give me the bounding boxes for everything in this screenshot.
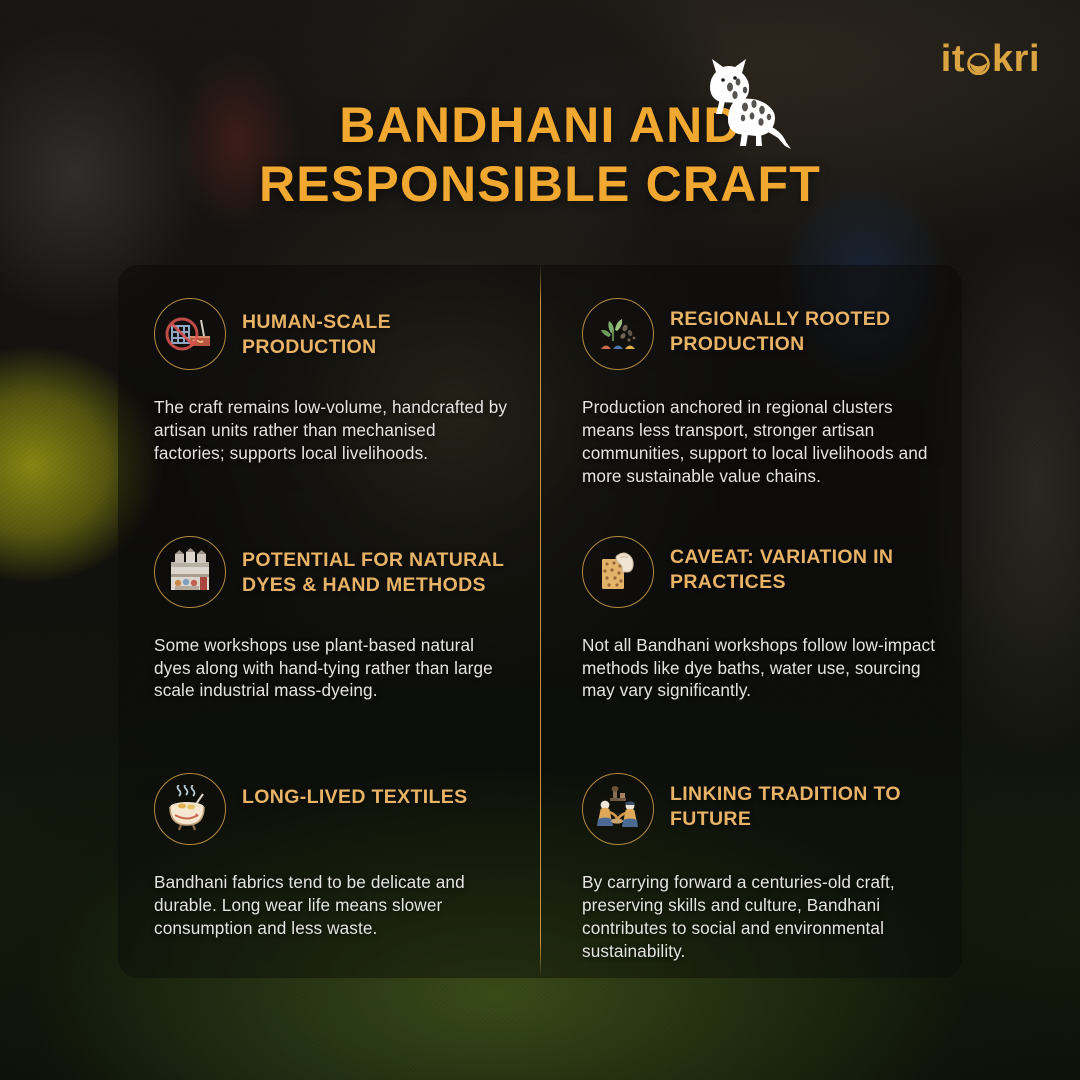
card-body: Not all Bandhani workshops follow low-im… <box>582 634 936 703</box>
page-title: BANDHANI AND RESPONSIBLE CRAFT <box>0 96 1080 213</box>
brand-logo[interactable]: itkri <box>941 40 1040 78</box>
logo-letters-it: it <box>941 40 965 78</box>
card-natural-dyes-hand-methods: POTENTIAL FOR NATURAL DYES & HAND METHOD… <box>118 503 540 741</box>
card-title: CAVEAT: VARIATION IN PRACTICES <box>670 536 936 595</box>
card-header: POTENTIAL FOR NATURAL DYES & HAND METHOD… <box>154 536 510 608</box>
logo-letters-kri: kri <box>992 40 1040 78</box>
card-body: Some workshops use plant-based natural d… <box>154 634 510 703</box>
card-regionally-rooted-production: REGIONALLY ROOTED PRODUCTION Production … <box>540 265 962 503</box>
card-header: LINKING TRADITION TO FUTURE <box>582 773 936 845</box>
card-long-lived-textiles: LONG-LIVED TEXTILES Bandhani fabrics ten… <box>118 740 540 978</box>
card-title: LONG-LIVED TEXTILES <box>242 773 468 810</box>
card-title: LINKING TRADITION TO FUTURE <box>670 773 936 832</box>
card-body: Production anchored in regional clusters… <box>582 396 936 488</box>
workshop-building-icon <box>154 536 226 608</box>
card-header: HUMAN-SCALE PRODUCTION <box>154 298 510 370</box>
card-body: The craft remains low-volume, handcrafte… <box>154 396 510 465</box>
card-linking-tradition-to-future: LINKING TRADITION TO FUTURE By carrying … <box>540 740 962 978</box>
card-body: By carrying forward a centuries-old craf… <box>582 871 936 963</box>
card-caveat-variation-in-practices: CAVEAT: VARIATION IN PRACTICES Not all B… <box>540 503 962 741</box>
cat-illustration <box>690 54 796 149</box>
content-panel: HUMAN-SCALE PRODUCTION The craft remains… <box>118 265 962 978</box>
cards-grid: HUMAN-SCALE PRODUCTION The craft remains… <box>118 265 962 978</box>
card-header: LONG-LIVED TEXTILES <box>154 773 510 845</box>
card-human-scale-production: HUMAN-SCALE PRODUCTION The craft remains… <box>118 265 540 503</box>
title-line-1: BANDHANI AND <box>0 96 1080 155</box>
bowl-icon <box>966 47 991 72</box>
hand-holding-fabric-icon <box>582 536 654 608</box>
card-title: POTENTIAL FOR NATURAL DYES & HAND METHOD… <box>242 536 510 598</box>
card-header: CAVEAT: VARIATION IN PRACTICES <box>582 536 936 608</box>
card-title: REGIONALLY ROOTED PRODUCTION <box>670 298 936 357</box>
no-factory-icon <box>154 298 226 370</box>
title-line-2: RESPONSIBLE CRAFT <box>0 155 1080 214</box>
card-title: HUMAN-SCALE PRODUCTION <box>242 298 510 360</box>
steaming-dye-pot-icon <box>154 773 226 845</box>
sprouting-plants-icon <box>582 298 654 370</box>
card-header: REGIONALLY ROOTED PRODUCTION <box>582 298 936 370</box>
card-body: Bandhani fabrics tend to be delicate and… <box>154 871 510 940</box>
two-artisans-icon <box>582 773 654 845</box>
